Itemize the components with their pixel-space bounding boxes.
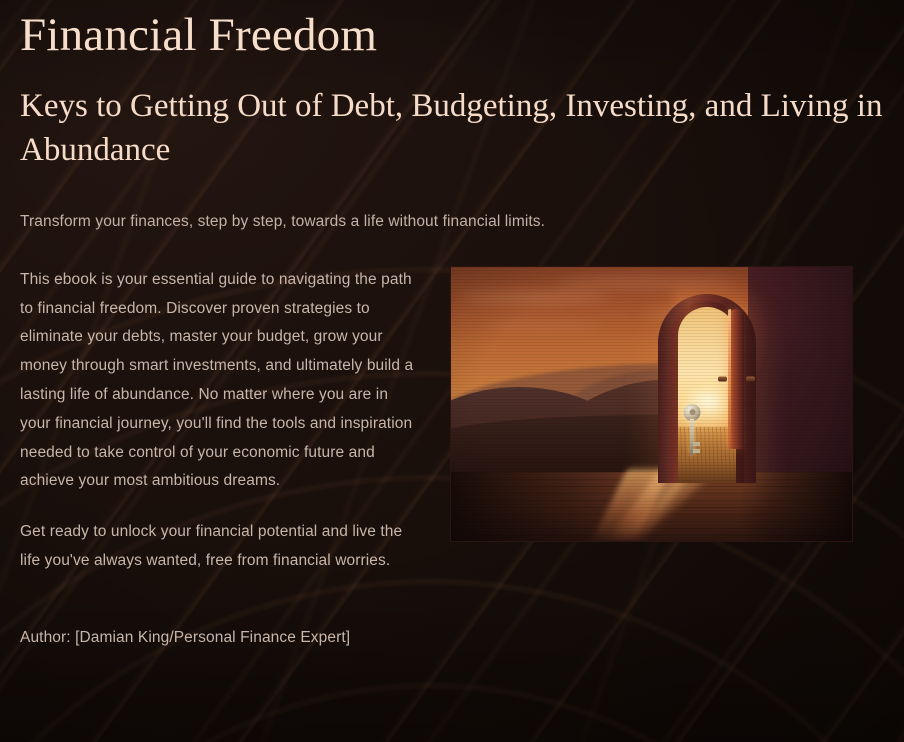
page-tagline: Transform your finances, step by step, t… bbox=[20, 172, 884, 233]
cloud-streak bbox=[555, 278, 735, 288]
description-paragraph-2: Get ready to unlock your financial poten… bbox=[20, 518, 420, 576]
doorway-opening bbox=[678, 307, 736, 483]
ebook-landing-page: Financial Freedom Keys to Getting Out of… bbox=[0, 0, 904, 742]
description-paragraph-1: This ebook is your essential guide to na… bbox=[20, 266, 420, 497]
content-columns: This ebook is your essential guide to na… bbox=[20, 234, 884, 651]
door-handle-icon bbox=[746, 377, 755, 382]
illustration-canvas bbox=[451, 267, 852, 541]
floor-shadow-left bbox=[451, 472, 619, 541]
key-tooth bbox=[693, 449, 700, 453]
floor-shadow-right bbox=[740, 472, 852, 541]
open-door-with-key-illustration bbox=[450, 266, 853, 542]
author-credit: Author: [Damian King/Personal Finance Ex… bbox=[20, 598, 420, 651]
hero-image-column bbox=[450, 266, 853, 542]
open-door-slab bbox=[728, 309, 744, 449]
page-subtitle: Keys to Getting Out of Debt, Budgeting, … bbox=[20, 60, 884, 172]
key-tooth bbox=[693, 442, 700, 446]
door-lit-edge bbox=[728, 309, 731, 449]
page-content: Financial Freedom Keys to Getting Out of… bbox=[0, 0, 904, 651]
door-handle-icon bbox=[718, 377, 727, 382]
page-title: Financial Freedom bbox=[20, 0, 884, 60]
description-column: This ebook is your essential guide to na… bbox=[20, 266, 420, 651]
key-icon bbox=[685, 404, 699, 456]
arched-door-frame bbox=[658, 294, 756, 483]
